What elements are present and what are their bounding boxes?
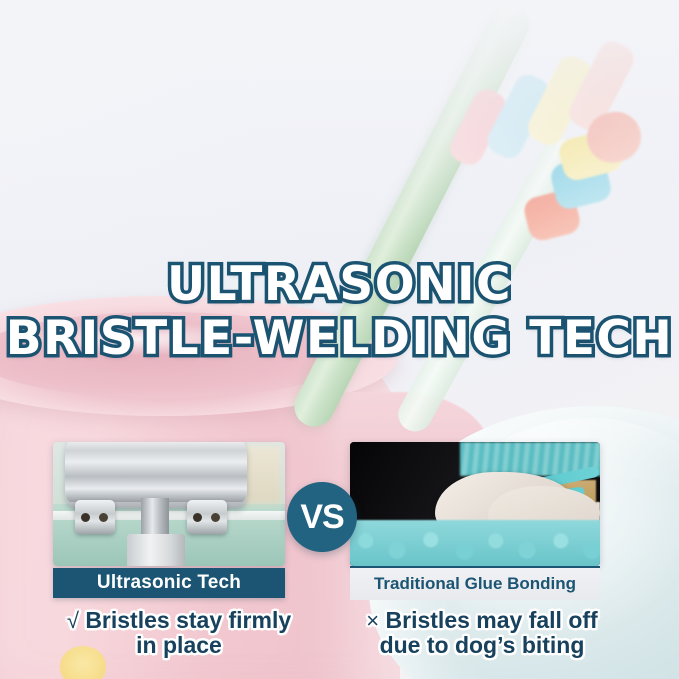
- bullet-left-line-2: in place: [46, 633, 312, 658]
- bullet-left-line-1: Bristles stay firmly: [85, 607, 291, 633]
- caption-right-label: Traditional Glue Bonding: [374, 574, 576, 594]
- caption-bar-right: Traditional Glue Bonding: [350, 566, 600, 600]
- pink-cup-highlight: [10, 322, 260, 356]
- vs-badge: VS: [287, 482, 357, 552]
- check-mark-icon: √: [67, 608, 79, 633]
- glue-bonding-factory-photo: [350, 442, 600, 566]
- vs-label: VS: [300, 498, 343, 537]
- bullet-left: √ Bristles stay firmly in place: [46, 608, 312, 659]
- comparison-panel-right: [350, 442, 600, 566]
- comparison-panel-left: [53, 442, 285, 566]
- product-infographic: ULTRASONIC BRISTLE-WELDING TECH: [0, 0, 679, 679]
- ultrasonic-welding-machine-photo: [53, 442, 285, 566]
- caption-bar-left: Ultrasonic Tech: [53, 568, 285, 598]
- caption-left-label: Ultrasonic Tech: [97, 572, 241, 594]
- bullet-right-line-1: Bristles may fall off: [386, 607, 598, 633]
- bullet-right-line-2: due to dog’s biting: [332, 633, 632, 658]
- bullet-right: × Bristles may fall off due to dog’s bit…: [332, 608, 632, 659]
- cross-mark-icon: ×: [366, 608, 379, 633]
